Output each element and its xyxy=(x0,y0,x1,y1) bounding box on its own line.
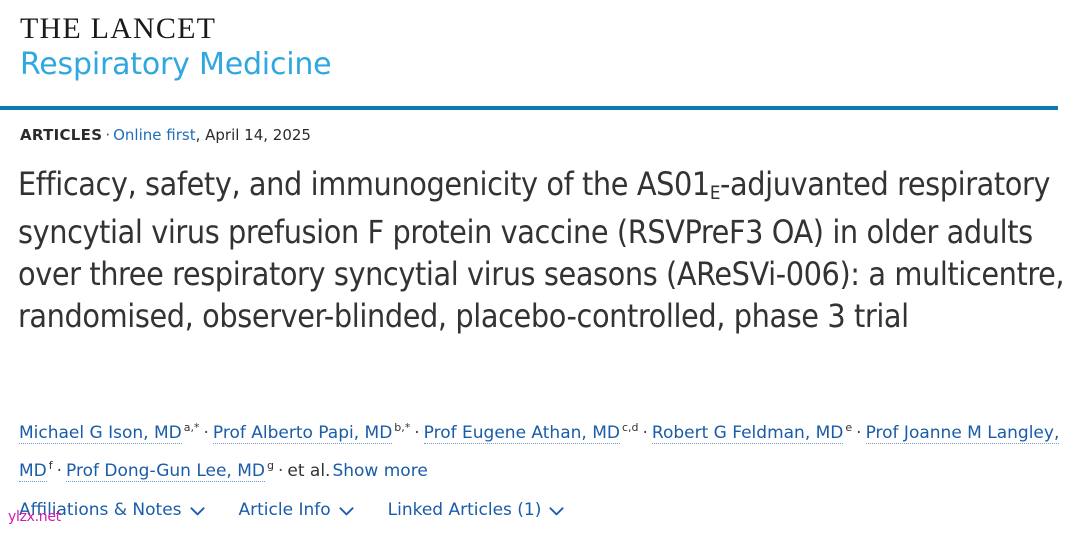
author-separator-dot: · xyxy=(410,423,423,443)
author-link[interactable]: Michael G Ison, MD xyxy=(19,423,182,444)
toggle-label: Affiliations & Notes xyxy=(19,500,182,520)
author-affiliation-marker: g xyxy=(265,459,274,472)
journal-name-specialty: Respiratory Medicine xyxy=(20,46,1078,84)
author-separator-dot: · xyxy=(53,461,66,481)
author-list: Michael G Ison, MDa,*·Prof Alberto Papi,… xyxy=(19,414,1069,490)
toggle-label: Linked Articles (1) xyxy=(388,500,542,520)
author-entry: Prof Eugene Athan, MDc,d xyxy=(424,423,639,443)
author-entry: Prof Dong-Gun Lee, MDg xyxy=(66,461,274,481)
author-entry: Prof Alberto Papi, MDb,* xyxy=(213,423,410,443)
author-affiliation-marker: a,* xyxy=(182,421,200,434)
et-al-label: et al. xyxy=(287,461,330,481)
chevron-down-icon xyxy=(549,507,564,516)
author-entry: Michael G Ison, MDa,* xyxy=(19,423,199,443)
author-link[interactable]: Prof Eugene Athan, MD xyxy=(424,423,620,444)
meta-separator-dot: · xyxy=(102,126,113,144)
article-title: Efficacy, safety, and immunogenicity of … xyxy=(18,163,1066,337)
chevron-down-icon xyxy=(190,507,205,516)
chevron-down-icon xyxy=(339,507,354,516)
author-link[interactable]: Robert G Feldman, MD xyxy=(652,423,843,444)
article-header-page: THE LANCET Respiratory Medicine ARTICLES… xyxy=(0,0,1078,535)
toggle-article-info[interactable]: Article Info xyxy=(239,500,354,520)
publication-date: , April 14, 2025 xyxy=(196,126,311,144)
article-type-label: ARTICLES xyxy=(20,126,102,144)
author-link[interactable]: Prof Dong-Gun Lee, MD xyxy=(66,461,265,482)
toggle-affiliations-and-notes[interactable]: Affiliations & Notes xyxy=(19,500,205,520)
section-toggle-row: Affiliations & Notes Article Info Linked… xyxy=(19,500,564,520)
author-separator-dot: · xyxy=(199,423,212,443)
online-first-link[interactable]: Online first xyxy=(113,126,195,144)
author-separator-dot: · xyxy=(852,423,865,443)
author-affiliation-marker: e xyxy=(843,421,852,434)
author-separator-dot: · xyxy=(639,423,652,443)
toggle-linked-articles[interactable]: Linked Articles (1) xyxy=(388,500,565,520)
article-title-prefix: Efficacy, safety, and immunogenicity of … xyxy=(18,165,710,203)
author-affiliation-marker: b,* xyxy=(392,421,410,434)
show-more-authors-link[interactable]: Show more xyxy=(330,461,427,481)
author-entry: Robert G Feldman, MDe xyxy=(652,423,852,443)
journal-masthead: THE LANCET Respiratory Medicine xyxy=(0,0,1078,84)
author-separator-dot: · xyxy=(274,461,287,481)
author-affiliation-marker: f xyxy=(47,459,53,472)
toggle-label: Article Info xyxy=(239,500,331,520)
journal-name-lancet: THE LANCET xyxy=(20,12,1078,46)
article-meta-line: ARTICLES·Online first, April 14, 2025 xyxy=(20,126,311,144)
author-link[interactable]: Prof Alberto Papi, MD xyxy=(213,423,392,444)
article-title-subscript: E xyxy=(710,183,720,204)
author-affiliation-marker: c,d xyxy=(620,421,639,434)
masthead-divider-rule xyxy=(0,106,1058,110)
